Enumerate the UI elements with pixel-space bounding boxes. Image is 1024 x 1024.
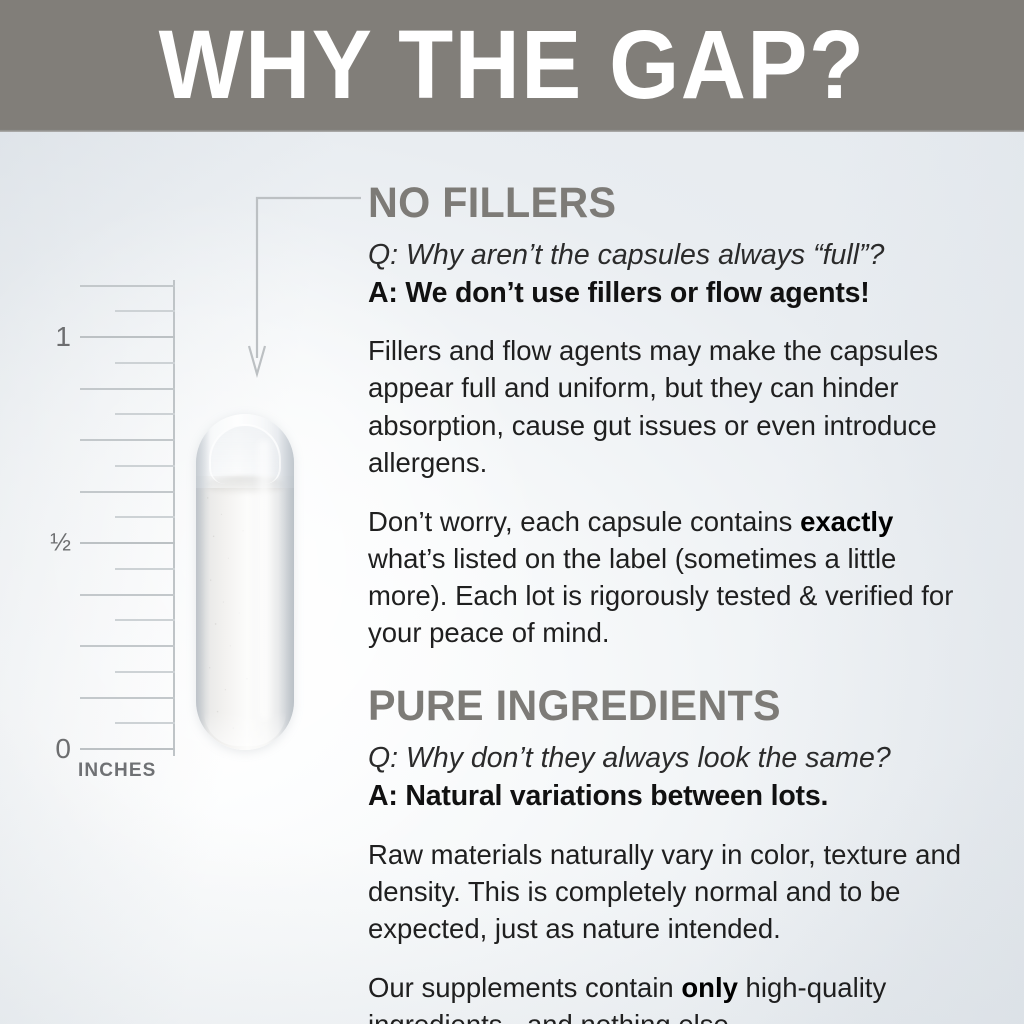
ruler-tick-minor bbox=[115, 310, 175, 312]
question-pure-ingredients: Q: Why don’t they always look the same? bbox=[368, 742, 968, 776]
header-bar: WHY THE GAP? bbox=[0, 0, 1024, 132]
ruler-tick-major bbox=[80, 439, 175, 441]
capsule-specular-highlight bbox=[254, 440, 274, 720]
capsule-image bbox=[196, 414, 298, 754]
ruler-tick-labeled bbox=[80, 542, 175, 544]
ruler-label-2: 0 bbox=[55, 735, 71, 763]
ruler-tick-major bbox=[80, 645, 175, 647]
ruler-tick-major bbox=[80, 697, 175, 699]
ruler-label-0: 1 bbox=[55, 323, 71, 351]
body-text: Raw materials naturally vary in color, t… bbox=[368, 839, 961, 944]
body-text: Don’t worry, each capsule contains bbox=[368, 506, 800, 537]
callout-arrow-icon bbox=[248, 196, 363, 378]
section-heading-no-fillers: NO FILLERS bbox=[368, 182, 944, 225]
capsule-shell bbox=[196, 414, 294, 750]
paragraph-only-high-quality: Our supplements contain only high-qualit… bbox=[368, 969, 968, 1024]
ruler-tick-minor bbox=[115, 362, 175, 364]
ruler-tick-minor bbox=[115, 568, 175, 570]
ruler-tick-minor bbox=[115, 619, 175, 621]
answer-pure-ingredients: A: Natural variations between lots. bbox=[368, 780, 968, 814]
ruler-unit-label: INCHES bbox=[78, 760, 156, 782]
capsule-right-edge bbox=[278, 414, 294, 750]
emphasis-text: exactly bbox=[800, 506, 893, 537]
ruler-label-1: ½ bbox=[50, 531, 71, 556]
ruler-tick-major bbox=[80, 388, 175, 390]
body-text: Fillers and flow agents may make the cap… bbox=[368, 335, 938, 477]
ruler-tick-major bbox=[80, 594, 175, 596]
paragraph-raw-material-variation: Raw materials naturally vary in color, t… bbox=[368, 836, 968, 947]
ruler-tick-minor bbox=[115, 722, 175, 724]
ruler-tick-labeled bbox=[80, 336, 175, 338]
ruler-tick-major bbox=[80, 285, 175, 287]
infographic-root: WHY THE GAP? 1½0 INCHES NO FILLER bbox=[0, 0, 1024, 1024]
ruler-tick-minor bbox=[115, 671, 175, 673]
emphasis-text: only bbox=[681, 972, 738, 1003]
ruler-tick-minor bbox=[115, 516, 175, 518]
paragraph-fillers-risks: Fillers and flow agents may make the cap… bbox=[368, 332, 968, 481]
ruler-tick-labeled bbox=[80, 748, 175, 750]
body-text: Our supplements contain bbox=[368, 972, 681, 1003]
section-heading-pure-ingredients: PURE INGREDIENTS bbox=[368, 685, 944, 728]
paragraph-exact-label: Don’t worry, each capsule contains exact… bbox=[368, 503, 968, 652]
answer-no-fillers: A: We don’t use fillers or flow agents! bbox=[368, 277, 968, 311]
ruler-tick-minor bbox=[115, 413, 175, 415]
body-text: what’s listed on the label (sometimes a … bbox=[368, 543, 953, 648]
page-title: WHY THE GAP? bbox=[36, 0, 988, 132]
inches-ruler: 1½0 bbox=[55, 280, 175, 756]
copy-column: NO FILLERS Q: Why aren’t the capsules al… bbox=[368, 182, 968, 1024]
ruler-tick-minor bbox=[115, 465, 175, 467]
ruler-tick-major bbox=[80, 491, 175, 493]
question-no-fillers: Q: Why aren’t the capsules always “full”… bbox=[368, 239, 968, 273]
capsule-left-edge bbox=[196, 414, 210, 750]
